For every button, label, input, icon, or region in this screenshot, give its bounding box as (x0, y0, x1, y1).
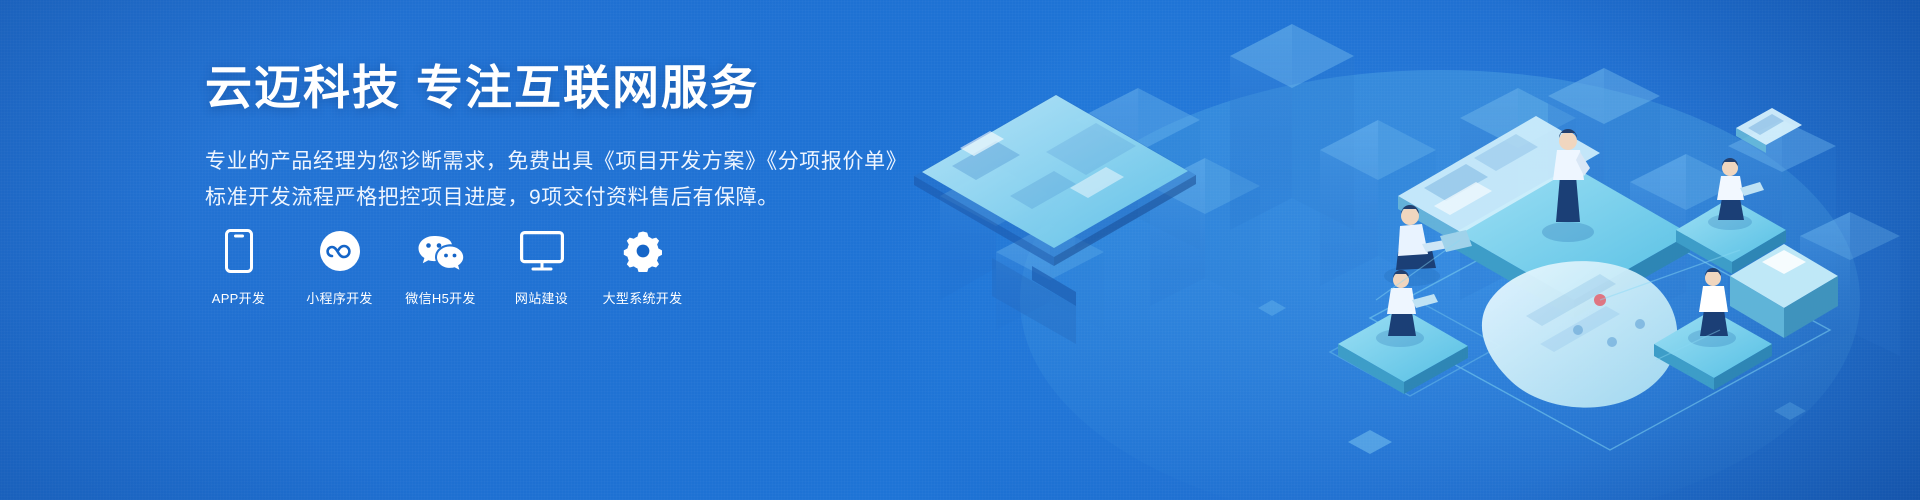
service-list: APP开发 小程序开发 微信 (205, 228, 676, 307)
service-item-app[interactable]: APP开发 (205, 228, 272, 307)
isometric-illustration (900, 0, 1920, 500)
banner-copy: 云迈科技 专注互联网服务 专业的产品经理为您诊断需求，免费出具《项目开发方案》《… (205, 62, 907, 215)
subtitle-line-1: 专业的产品经理为您诊断需求，免费出具《项目开发方案》《分项报价单》 (205, 145, 907, 179)
service-item-wechat-h5[interactable]: 微信H5开发 (407, 228, 474, 307)
service-item-website[interactable]: 网站建设 (508, 228, 575, 307)
service-label: APP开发 (212, 288, 266, 307)
service-item-large-system[interactable]: 大型系统开发 (609, 228, 676, 307)
service-label: 网站建设 (515, 288, 568, 307)
service-item-mini-program[interactable]: 小程序开发 (306, 228, 373, 307)
mini-program-icon (319, 228, 361, 274)
service-label: 微信H5开发 (405, 288, 475, 307)
gear-icon (622, 228, 664, 274)
page-title: 云迈科技 专注互联网服务 (205, 62, 907, 115)
banner-subtitle: 专业的产品经理为您诊断需求，免费出具《项目开发方案》《分项报价单》 标准开发流程… (205, 145, 907, 215)
subtitle-line-2: 标准开发流程严格把控项目进度，9项交付资料售后有保障。 (205, 181, 907, 215)
hero-banner: 云迈科技 专注互联网服务 专业的产品经理为您诊断需求，免费出具《项目开发方案》《… (0, 0, 1920, 500)
mobile-phone-icon (225, 228, 253, 274)
monitor-icon (520, 228, 564, 274)
service-label: 大型系统开发 (603, 288, 683, 307)
wechat-icon (417, 228, 465, 274)
service-label: 小程序开发 (306, 288, 373, 307)
